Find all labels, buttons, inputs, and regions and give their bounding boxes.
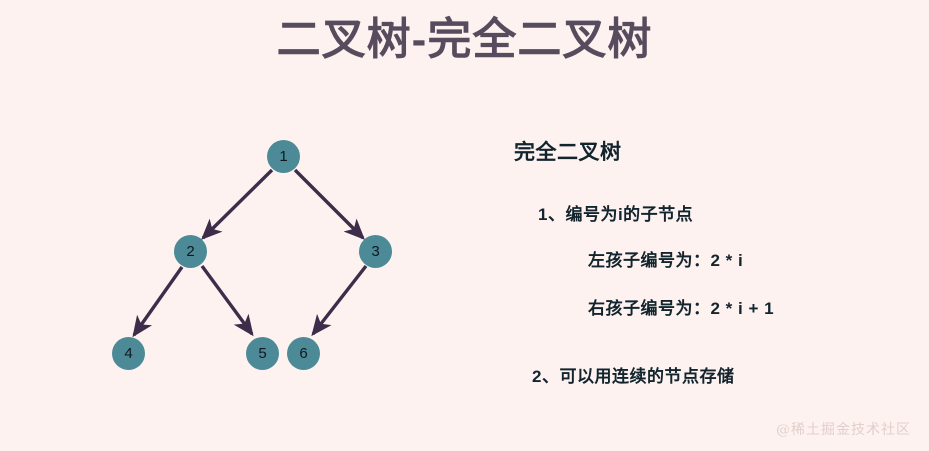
binary-tree-diagram: 1 2 3 4 5 6 [0, 0, 470, 451]
tree-node-4-label: 4 [124, 346, 132, 361]
tree-edge-2-5 [202, 266, 252, 334]
content-heading: 完全二叉树 [514, 136, 622, 166]
content-subitem-left-child: 左孩子编号为：2 * i [588, 246, 743, 271]
tree-node-4[interactable]: 4 [112, 337, 145, 370]
content-panel: 完全二叉树 1、编号为i的子节点 左孩子编号为：2 * i 右孩子编号为：2 *… [470, 0, 929, 451]
tree-node-6[interactable]: 6 [287, 337, 320, 370]
tree-node-6-label: 6 [299, 346, 307, 361]
tree-edge-3-6 [313, 266, 366, 334]
tree-node-5[interactable]: 5 [246, 337, 279, 370]
tree-edge-1-3 [295, 170, 363, 238]
tree-edges-svg [0, 0, 470, 451]
content-subitem-right-child: 右孩子编号为：2 * i + 1 [588, 294, 774, 319]
watermark: @稀土掘金技术社区 [776, 419, 911, 439]
content-item-contiguous-storage: 2、可以用连续的节点存储 [532, 362, 734, 387]
tree-node-2-label: 2 [186, 244, 194, 259]
tree-node-3-label: 3 [371, 244, 379, 259]
content-item-child-numbering: 1、编号为i的子节点 [538, 200, 693, 225]
tree-node-3[interactable]: 3 [359, 235, 392, 268]
slide-canvas: 二叉树-完全二叉树 1 2 3 4 [0, 0, 929, 451]
tree-node-1[interactable]: 1 [267, 140, 300, 173]
tree-node-1-label: 1 [279, 149, 287, 164]
tree-edge-1-2 [203, 170, 272, 238]
tree-node-5-label: 5 [258, 346, 266, 361]
tree-edge-2-4 [134, 267, 182, 335]
tree-node-2[interactable]: 2 [174, 235, 207, 268]
